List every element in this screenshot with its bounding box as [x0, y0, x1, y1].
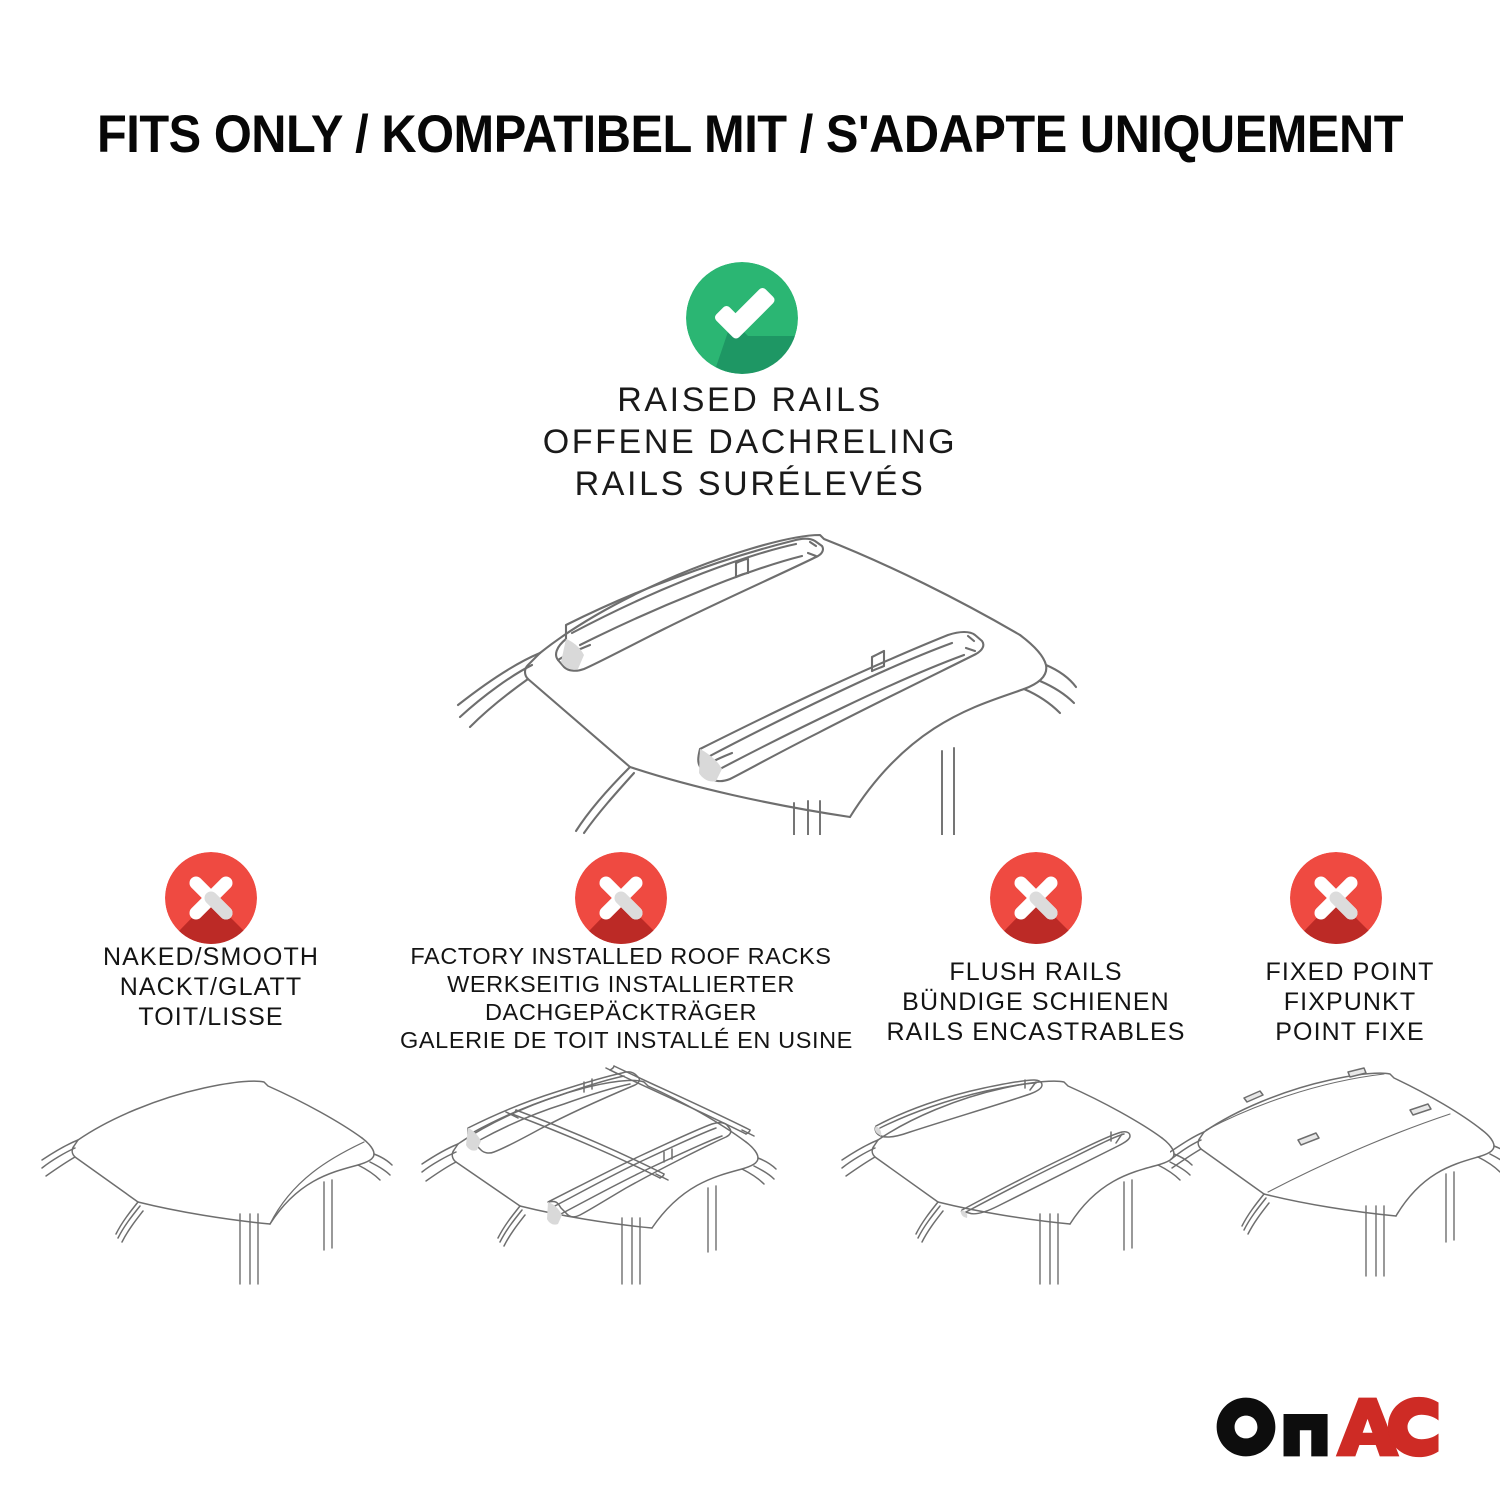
fitment-compatibility-infographic: FITS ONLY / KOMPATIBEL MIT / S'ADAPTE UN… — [0, 0, 1500, 1500]
label-line-2: WERKSEITIG INSTALLIERTER — [400, 970, 842, 998]
car-roof-raised-rails-illustration — [420, 505, 1100, 835]
label-line-2: BÜNDIGE SCHIENEN — [855, 987, 1217, 1017]
label-line-1: NAKED/SMOOTH — [30, 942, 392, 972]
omac-logo — [1215, 1396, 1440, 1458]
label-line-3: DACHGEPÄCKTRÄGER — [400, 998, 842, 1026]
cross-circle-icon — [165, 852, 257, 944]
label-line-4: GALERIE DE TOIT INSTALLÉ EN USINE — [400, 1026, 842, 1054]
car-roof-flush-rails-illustration — [840, 1062, 1222, 1324]
label-line-1: FLUSH RAILS — [855, 957, 1217, 987]
label-line-3: POINT FIXE — [1215, 1017, 1485, 1047]
incompatible-label-flush-rails: FLUSH RAILS BÜNDIGE SCHIENEN RAILS ENCAS… — [855, 957, 1217, 1047]
incompatible-label-fixed-point: FIXED POINT FIXPUNKT POINT FIXE — [1215, 957, 1485, 1047]
car-roof-fixed-point-illustration — [1170, 1062, 1500, 1324]
car-roof-factory-roof-racks-illustration — [420, 1052, 802, 1324]
compatible-label: RAISED RAILS OFFENE DACHRELING RAILS SUR… — [0, 379, 1500, 505]
compatible-label-line-1: RAISED RAILS — [0, 379, 1500, 421]
cross-circle-icon — [990, 852, 1082, 944]
check-circle-icon — [686, 262, 798, 374]
label-line-3: TOIT/LISSE — [30, 1002, 392, 1032]
incompatible-label-factory-roof-racks: FACTORY INSTALLED ROOF RACKS WERKSEITIG … — [400, 942, 842, 1054]
label-line-1: FIXED POINT — [1215, 957, 1485, 987]
cross-circle-icon — [1290, 852, 1382, 944]
label-line-1: FACTORY INSTALLED ROOF RACKS — [400, 942, 842, 970]
incompatible-label-naked-smooth: NAKED/SMOOTH NACKT/GLATT TOIT/LISSE — [30, 942, 392, 1032]
label-line-3: RAILS ENCASTRABLES — [855, 1017, 1217, 1047]
page-title: FITS ONLY / KOMPATIBEL MIT / S'ADAPTE UN… — [60, 104, 1440, 165]
cross-circle-icon — [575, 852, 667, 944]
label-line-2: NACKT/GLATT — [30, 972, 392, 1002]
car-roof-naked-smooth-illustration — [40, 1062, 422, 1324]
label-line-2: FIXPUNKT — [1215, 987, 1485, 1017]
compatible-label-line-2: OFFENE DACHRELING — [0, 421, 1500, 463]
compatible-label-line-3: RAILS SURÉLEVÉS — [0, 463, 1500, 505]
